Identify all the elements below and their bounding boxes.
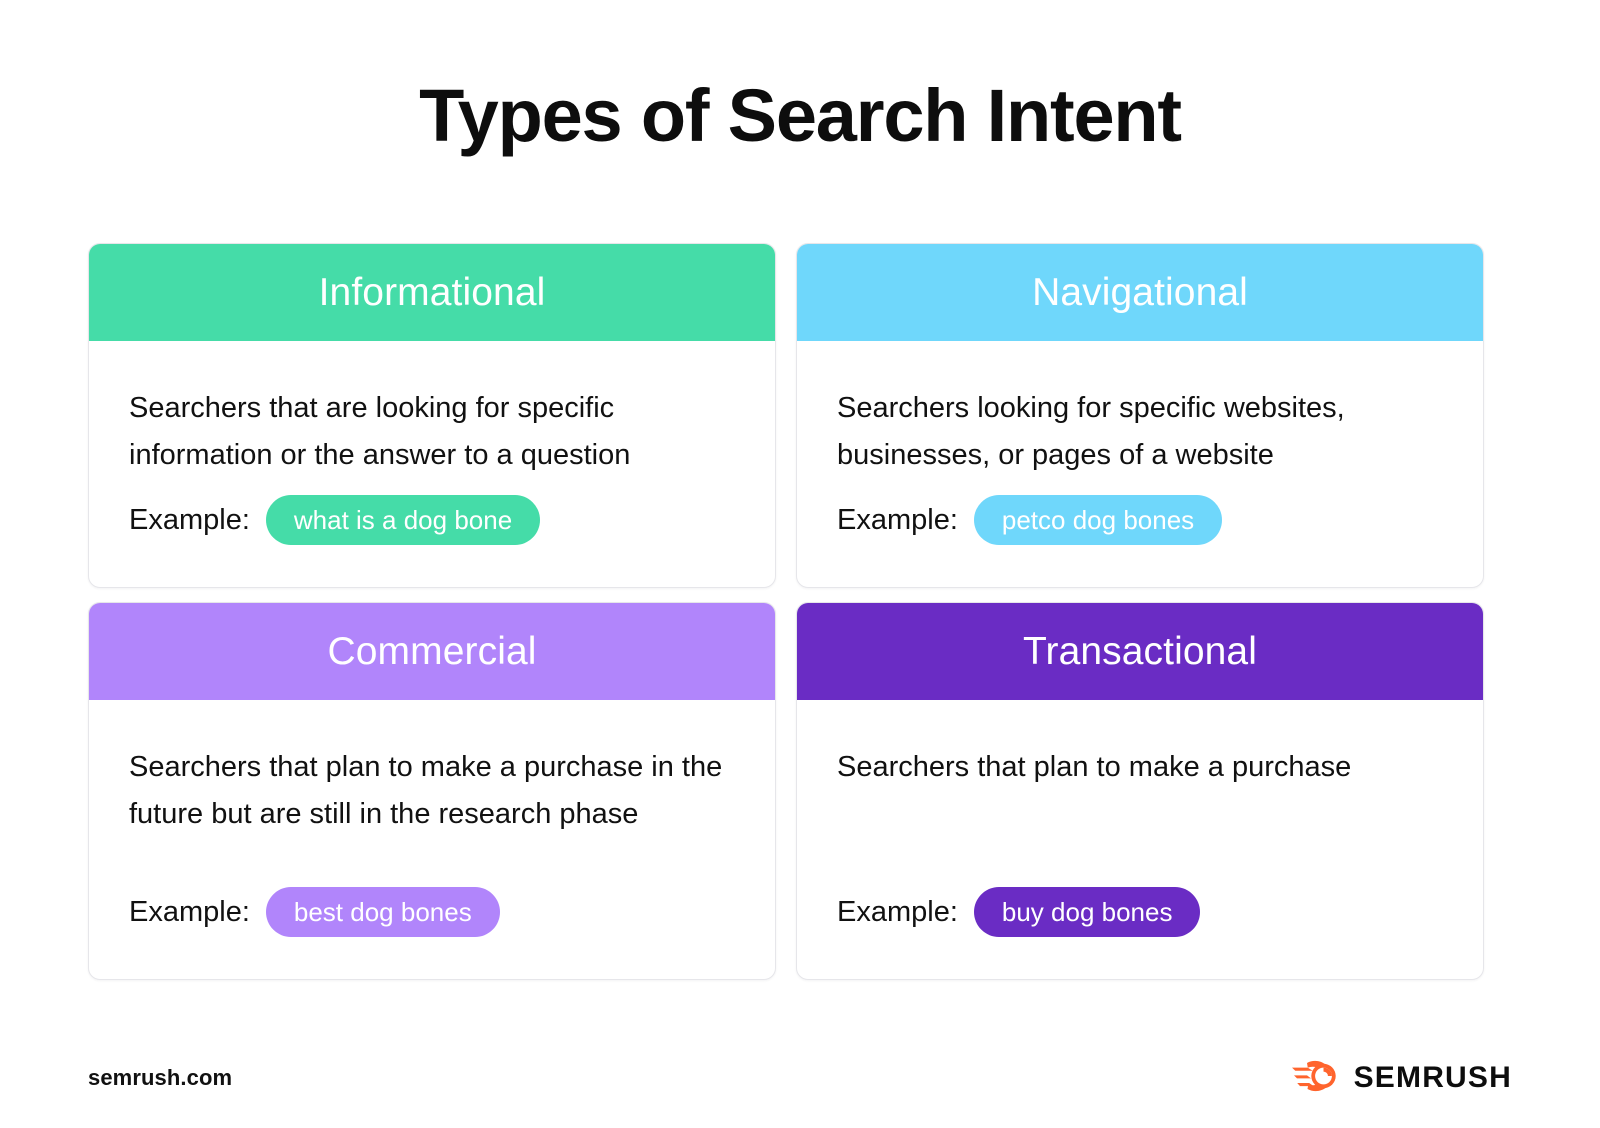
footer-source-url: semrush.com: [88, 1065, 232, 1091]
example-row-informational: Example: what is a dog bone: [129, 495, 735, 587]
example-row-navigational: Example: petco dog bones: [837, 495, 1443, 587]
intent-card-commercial: Commercial Searchers that plan to make a…: [88, 602, 776, 980]
example-pill-informational: what is a dog bone: [266, 495, 540, 545]
card-title-navigational: Navigational: [797, 244, 1483, 341]
example-pill-transactional: buy dog bones: [974, 887, 1201, 937]
card-title-transactional: Transactional: [797, 603, 1483, 700]
example-label-navigational: Example:: [837, 503, 958, 537]
card-body-transactional: Searchers that plan to make a purchase E…: [797, 700, 1483, 979]
example-pill-navigational: petco dog bones: [974, 495, 1222, 545]
example-row-transactional: Example: buy dog bones: [837, 887, 1443, 979]
card-description-transactional: Searchers that plan to make a purchase: [837, 744, 1437, 791]
card-body-commercial: Searchers that plan to make a purchase i…: [89, 700, 775, 979]
card-body-navigational: Searchers looking for specific websites,…: [797, 341, 1483, 587]
example-label-informational: Example:: [129, 503, 250, 537]
example-row-commercial: Example: best dog bones: [129, 887, 735, 979]
card-body-informational: Searchers that are looking for specific …: [89, 341, 775, 587]
card-description-navigational: Searchers looking for specific websites,…: [837, 385, 1437, 479]
card-title-commercial: Commercial: [89, 603, 775, 700]
intent-card-grid: Informational Searchers that are looking…: [88, 243, 1484, 980]
page-title: Types of Search Intent: [0, 70, 1600, 162]
example-pill-commercial: best dog bones: [266, 887, 500, 937]
infographic-root: Types of Search Intent Informational Sea…: [0, 0, 1600, 1128]
example-label-commercial: Example:: [129, 895, 250, 929]
intent-card-navigational: Navigational Searchers looking for speci…: [796, 243, 1484, 588]
semrush-comet-icon: [1292, 1059, 1340, 1098]
intent-card-informational: Informational Searchers that are looking…: [88, 243, 776, 588]
card-description-informational: Searchers that are looking for specific …: [129, 385, 729, 479]
semrush-wordmark: SEMRUSH: [1354, 1061, 1512, 1095]
intent-card-transactional: Transactional Searchers that plan to mak…: [796, 602, 1484, 980]
footer: semrush.com SEMRUSH: [88, 1054, 1512, 1102]
card-description-commercial: Searchers that plan to make a purchase i…: [129, 744, 729, 838]
semrush-logo: SEMRUSH: [1292, 1059, 1512, 1098]
example-label-transactional: Example:: [837, 895, 958, 929]
card-title-informational: Informational: [89, 244, 775, 341]
